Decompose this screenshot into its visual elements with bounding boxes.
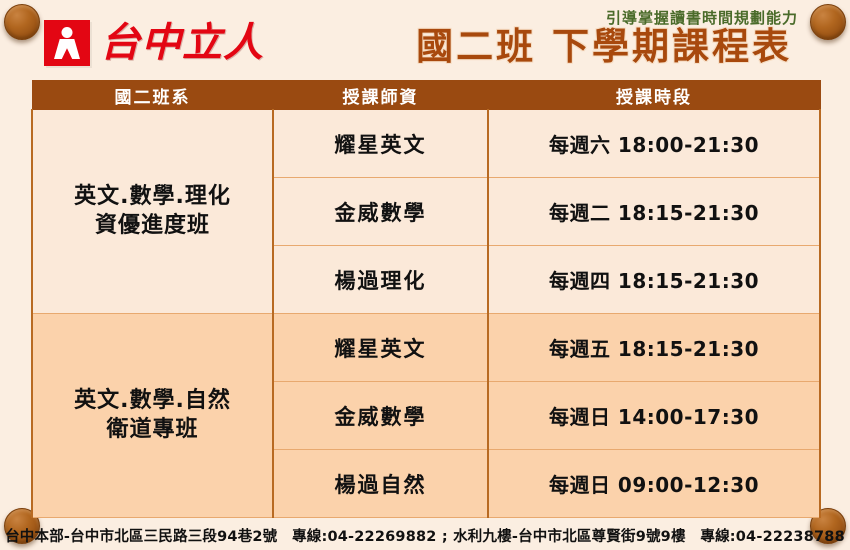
group-name-line1: 英文.數學.理化 — [33, 183, 272, 212]
person-logo-body — [54, 39, 80, 59]
brand-name: 台中立人 — [100, 23, 264, 63]
person-logo-head — [62, 27, 73, 38]
contact-footer: 台中本部-台中市北區三民路三段94巷2號 專線:04-22269882 ; 水利… — [0, 525, 850, 546]
course-schedule-poster: 台中立人 引導掌握讀書時間規劃能力 國二班 下學期課程表 國二班系 授課師資 授… — [0, 0, 850, 550]
group-name-cell: 英文.數學.理化 資優進度班 — [32, 110, 273, 314]
teacher-cell: 金威數學 — [273, 382, 488, 450]
table-row: 英文.數學.自然 衛道專班 耀星英文 每週五 18:15-21:30 — [32, 314, 820, 382]
group-name-line2: 衛道專班 — [33, 416, 272, 445]
schedule-table: 國二班系 授課師資 授課時段 英文.數學.理化 資優進度班 耀星英文 每週六 1… — [31, 80, 821, 518]
timeslot-cell: 每週六 18:00-21:30 — [488, 110, 820, 178]
poster-header: 台中立人 引導掌握讀書時間規劃能力 國二班 下學期課程表 — [0, 0, 850, 80]
timeslot-cell: 每週五 18:15-21:30 — [488, 314, 820, 382]
timeslot-cell: 每週四 18:15-21:30 — [488, 246, 820, 314]
column-header-time: 授課時段 — [488, 81, 820, 110]
person-logo-icon — [44, 20, 90, 66]
group-name-cell: 英文.數學.自然 衛道專班 — [32, 314, 273, 518]
timeslot-cell: 每週日 09:00-12:30 — [488, 450, 820, 518]
column-header-class: 國二班系 — [32, 81, 273, 110]
column-header-teacher: 授課師資 — [273, 81, 488, 110]
timeslot-cell: 每週二 18:15-21:30 — [488, 178, 820, 246]
group-name-line1: 英文.數學.自然 — [33, 387, 272, 416]
table-header-row: 國二班系 授課師資 授課時段 — [32, 81, 820, 110]
teacher-cell: 楊過理化 — [273, 246, 488, 314]
teacher-cell: 耀星英文 — [273, 110, 488, 178]
teacher-cell: 楊過自然 — [273, 450, 488, 518]
table-row: 英文.數學.理化 資優進度班 耀星英文 每週六 18:00-21:30 — [32, 110, 820, 178]
teacher-cell: 耀星英文 — [273, 314, 488, 382]
teacher-cell: 金威數學 — [273, 178, 488, 246]
timeslot-cell: 每週日 14:00-17:30 — [488, 382, 820, 450]
brand-logo: 台中立人 — [44, 20, 264, 66]
page-title: 國二班 下學期課程表 — [416, 28, 792, 67]
group-name-line2: 資優進度班 — [33, 212, 272, 241]
